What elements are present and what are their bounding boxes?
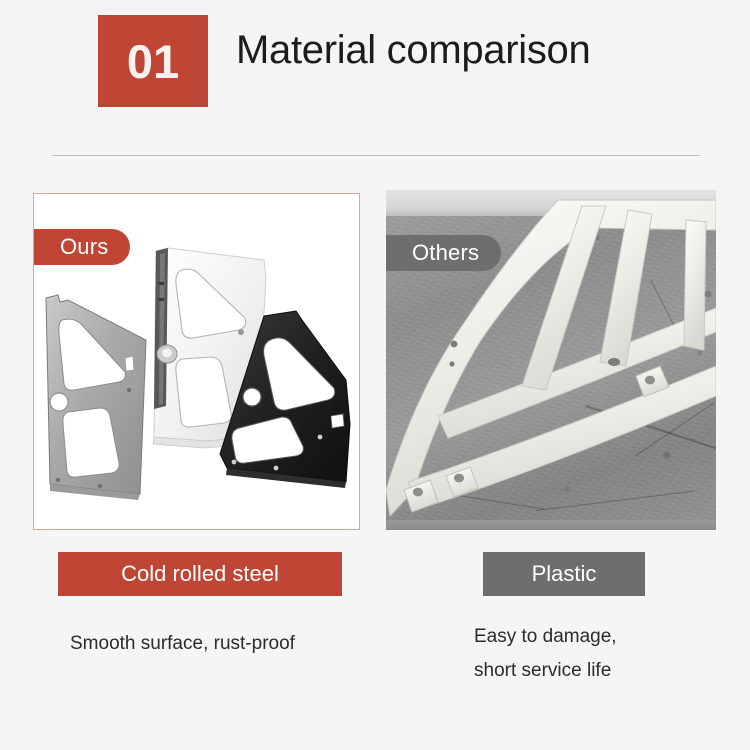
ours-tag: Ours	[34, 229, 130, 265]
others-description: Easy to damage, short service life	[474, 620, 617, 688]
ours-panel: Ours	[33, 193, 360, 530]
others-panel: Others	[386, 190, 716, 530]
ours-description: Smooth surface, rust-proof	[70, 627, 295, 661]
steel-part-silver	[46, 295, 146, 500]
floor-bottom-strip	[386, 520, 716, 530]
ours-material-label: Cold rolled steel	[58, 552, 342, 596]
others-tag: Others	[386, 235, 501, 271]
others-material-label: Plastic	[483, 552, 645, 596]
